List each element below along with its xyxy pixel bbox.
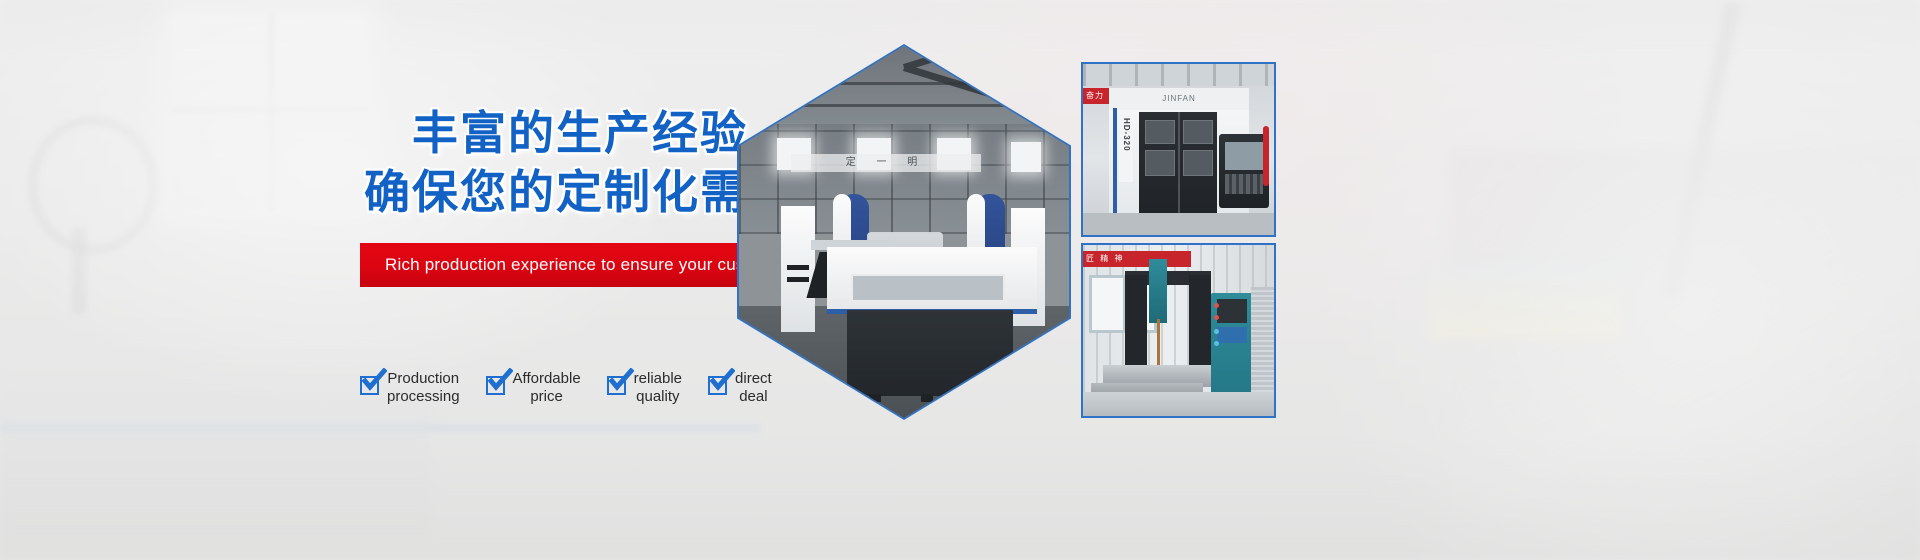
thumbnail-gantry-machine[interactable]: 匠 精 神	[1081, 243, 1276, 418]
hexagon-column-vent	[787, 265, 809, 270]
hexagon-photo: 定 一 明	[739, 46, 1069, 418]
feature-label-line-2: processing	[387, 388, 460, 405]
thumb1-model-label: HD-320	[1119, 118, 1133, 182]
feature-label-line-2: quality	[636, 388, 679, 405]
feature-label-line-1: Production	[387, 370, 459, 387]
feature-label: reliable quality	[634, 370, 682, 407]
checkbox-checked-icon	[607, 376, 626, 395]
feature-item-reliable-quality: reliable quality	[607, 370, 682, 407]
thumb1-roof	[1083, 64, 1274, 86]
hero-banner: 丰富的生产经验 确保您的定制化需求 Rich production experi…	[0, 0, 1920, 560]
thumb1-door-window	[1145, 120, 1175, 144]
thumb2-floor	[1083, 392, 1274, 416]
thumb1-door-window	[1183, 120, 1213, 144]
thumb1-panel-screen	[1225, 142, 1263, 170]
thumbnail-machining-center[interactable]: 奋力 JINFAN HD-320	[1081, 62, 1276, 237]
thumb2-gantry-column-right	[1189, 275, 1211, 367]
feature-label: Production processing	[387, 370, 460, 407]
thumb1-door-window	[1145, 150, 1175, 176]
thumb1-model-label-text: HD-320	[1119, 118, 1133, 152]
feature-label-line-1: reliable	[634, 370, 682, 387]
feature-item-affordable-price: Affordable price	[486, 370, 581, 407]
hexagon-base-foot	[971, 394, 983, 402]
thumb2-spindle-ram	[1149, 259, 1167, 323]
hexagon-machine-window	[851, 274, 1005, 302]
thumb2-cabinet-button	[1214, 341, 1219, 346]
feature-item-production-processing: Production processing	[360, 370, 460, 407]
hexagon-machine-base	[847, 310, 1013, 396]
thumb2-cabinet-button	[1214, 315, 1219, 320]
hero-hexagon-image: 定 一 明	[737, 44, 1071, 420]
hexagon-purlin	[739, 104, 1069, 107]
checkbox-checked-icon	[486, 376, 505, 395]
thumb1-door-window	[1183, 150, 1213, 176]
checkbox-checked-icon	[360, 376, 379, 395]
hexagon-wall-caption: 定 一 明	[791, 154, 981, 172]
hexagon-window	[1011, 142, 1041, 172]
feature-label-line-1: Affordable	[513, 370, 581, 387]
hexagon-base-foot	[921, 394, 933, 402]
hexagon-purlin	[739, 82, 1069, 85]
thumb2-wall-banner-text: 匠 精 神	[1083, 251, 1191, 267]
thumb1-red-handle	[1263, 126, 1269, 186]
hexagon-column-vent	[787, 277, 809, 282]
thumb2-cabinet-button	[1214, 303, 1219, 308]
thumb1-panel-keypad	[1225, 174, 1263, 194]
feature-label: Affordable price	[513, 370, 581, 407]
thumb2-gantry-column-left	[1125, 275, 1147, 367]
feature-label-line-2: price	[530, 388, 563, 405]
thumb2-cabinet-panel	[1217, 327, 1247, 343]
checkbox-checked-icon	[708, 376, 727, 395]
thumb2-drill-bit	[1157, 319, 1160, 371]
hexagon-wall-caption-text: 定 一 明	[791, 154, 981, 172]
thumb2-wall-banner: 匠 精 神	[1083, 251, 1191, 267]
thumb2-side-cabinet	[1251, 287, 1275, 407]
thumb2-cabinet-button	[1214, 329, 1219, 334]
thumb1-brand-text: JINFAN	[1109, 94, 1249, 103]
thumb2-cabinet-screen	[1217, 299, 1247, 323]
thumb1-floor	[1083, 213, 1274, 235]
